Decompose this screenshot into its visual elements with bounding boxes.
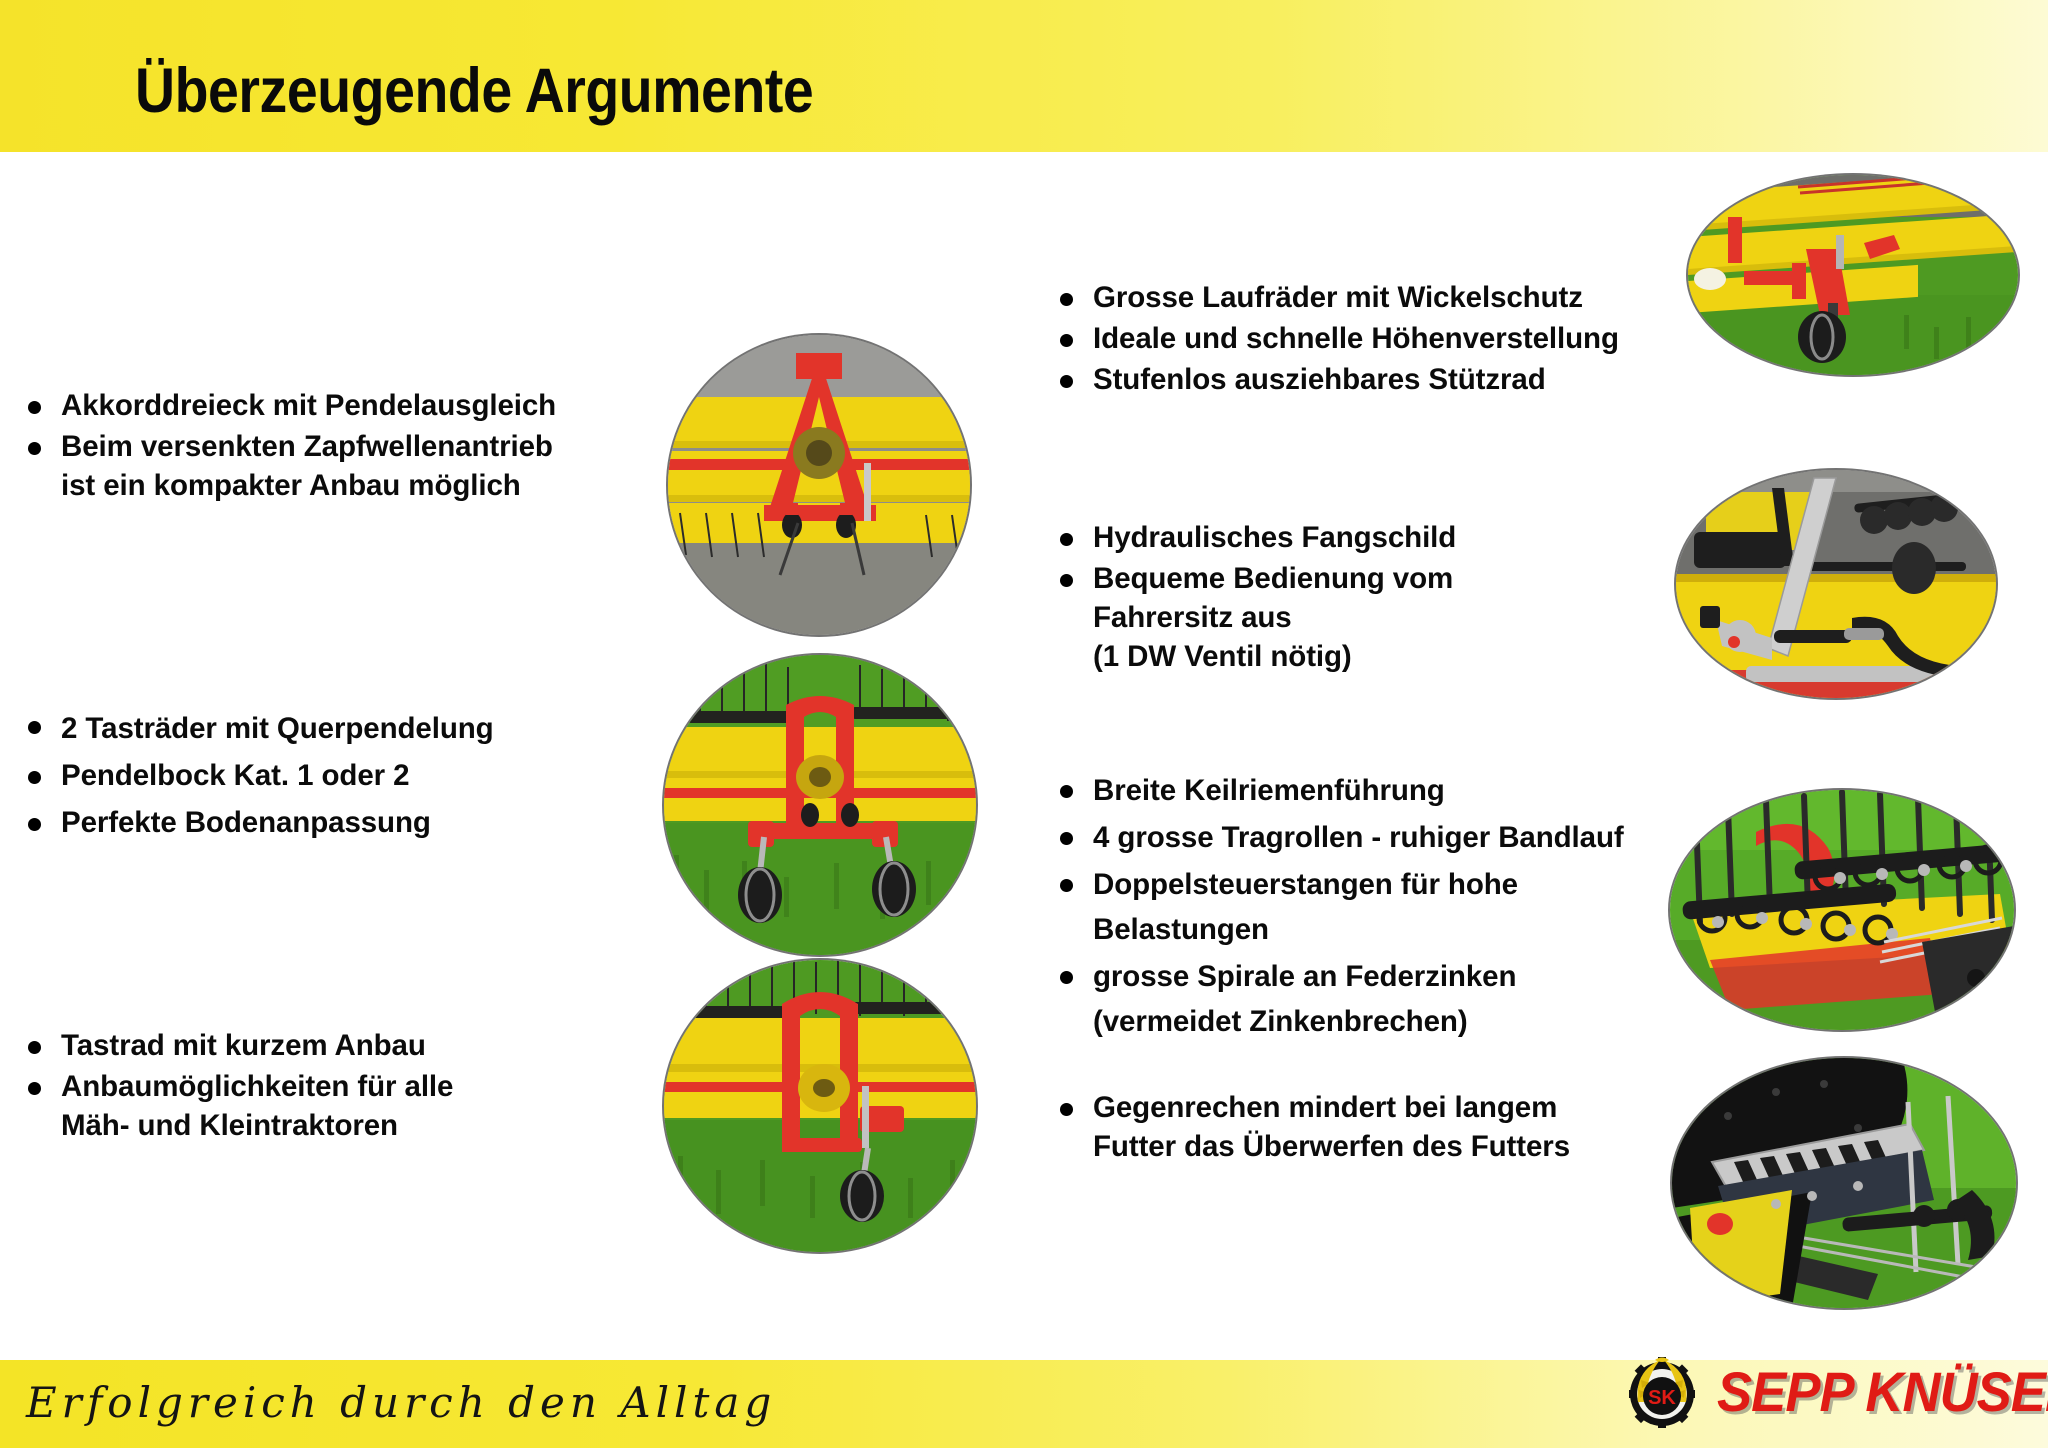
bullet-label: grosse Spirale an Federzinken (vermeidet… [1093,954,1516,1044]
list-item: Tastrad mit kurzem Anbau [28,1026,628,1065]
list-item: Ideale und schnelle Höhenverstellung [1060,319,1680,358]
list-item: Grosse Laufräder mit Wickelschutz [1060,278,1680,317]
left-block-akkorddreieck: Akkorddreieck mit Pendelausgleich Beim v… [28,386,628,507]
bullet-icon [28,818,41,831]
bullet-label: Bequeme Bedienung vom Fahrersitz aus (1 … [1093,559,1453,676]
bullet-label: Hydraulisches Fangschild [1093,518,1456,557]
bullet-icon [28,721,41,734]
right-block-keilriemen: Breite Keilriemenführung 4 grosse Tragro… [1060,768,1700,1046]
list-item: Bequeme Bedienung vom Fahrersitz aus (1 … [1060,559,1680,676]
list-item: 2 Tasträder mit Querpendelung [28,706,628,751]
photo-akkorddreieck [668,335,970,635]
bullet-icon [1060,879,1073,892]
photo-laufraeder [1688,175,2018,375]
bullet-icon [1060,785,1073,798]
bullet-label: Tastrad mit kurzem Anbau [61,1026,426,1065]
photo-fangschild [1676,470,1996,698]
bullet-label: Stufenlos ausziehbares Stützrad [1093,360,1546,399]
list-item: Akkorddreieck mit Pendelausgleich [28,386,628,425]
bullet-icon [28,1041,41,1054]
list-item: 4 grosse Tragrollen - ruhiger Bandlauf [1060,815,1700,860]
left-block-tastraeder: 2 Tasträder mit Querpendelung Pendelbock… [28,706,628,847]
bullet-icon [1060,375,1073,388]
photo-gegenrechen [1672,1058,2016,1308]
list-item: Pendelbock Kat. 1 oder 2 [28,753,628,798]
bullet-icon [28,401,41,414]
bullet-label: Gegenrechen mindert bei langem Futter da… [1093,1088,1570,1166]
bullet-icon [1060,574,1073,587]
bullet-icon [1060,334,1073,347]
page-title: Überzeugende Argumente [135,55,813,127]
bullet-icon [1060,971,1073,984]
photo-federzinken [1670,790,2014,1030]
list-item: Perfekte Bodenanpassung [28,800,628,845]
bullet-label: Breite Keilriemenführung [1093,768,1445,813]
list-item: Beim versenkten Zapfwellenantrieb ist ei… [28,427,628,505]
right-block-fangschild: Hydraulisches Fangschild Bequeme Bedienu… [1060,518,1680,678]
bullet-label: 4 grosse Tragrollen - ruhiger Bandlauf [1093,815,1624,860]
photo-pendelbock [664,655,976,955]
footer-slogan: Erfolgreich durch den Alltag [26,1378,776,1427]
sepp-knuesel-emblem-icon: SK [1625,1354,1699,1428]
photo-tastrad-kurz [664,960,976,1252]
list-item: Gegenrechen mindert bei langem Futter da… [1060,1088,1700,1166]
bullet-label: Akkorddreieck mit Pendelausgleich [61,386,556,425]
list-item: Hydraulisches Fangschild [1060,518,1680,557]
bullet-icon [1060,293,1073,306]
bullet-icon [1060,832,1073,845]
bullet-label: Ideale und schnelle Höhenverstellung [1093,319,1619,358]
company-name: SEPP KNÜSEL [1717,1359,2048,1424]
list-item: Stufenlos ausziehbares Stützrad [1060,360,1680,399]
list-item: Anbaumöglichkeiten für alle Mäh- und Kle… [28,1067,628,1145]
company-logo: SK SEPP KNÜSEL [1625,1354,2048,1428]
bullet-label: Anbaumöglichkeiten für alle Mäh- und Kle… [61,1067,453,1145]
bullet-icon [1060,533,1073,546]
bullet-icon [28,771,41,784]
bullet-label: Doppelsteuerstangen für hohe Belastungen [1093,862,1518,952]
right-block-gegenrechen: Gegenrechen mindert bei langem Futter da… [1060,1088,1700,1168]
bullet-icon [1060,1103,1073,1116]
bullet-label: Pendelbock Kat. 1 oder 2 [61,753,409,798]
bullet-label: Beim versenkten Zapfwellenantrieb ist ei… [61,427,553,505]
bullet-icon [28,1082,41,1095]
list-item: Doppelsteuerstangen für hohe Belastungen [1060,862,1700,952]
bullet-icon [28,442,41,455]
bullet-label: 2 Tasträder mit Querpendelung [61,706,494,751]
bullet-label: Grosse Laufräder mit Wickelschutz [1093,278,1583,317]
left-block-tastrad-kurz: Tastrad mit kurzem Anbau Anbaumöglichkei… [28,1026,628,1147]
emblem-monogram: SK [1648,1387,1676,1409]
bullet-label: Perfekte Bodenanpassung [61,800,431,845]
right-block-laufraeder: Grosse Laufräder mit Wickelschutz Ideale… [1060,278,1680,401]
list-item: Breite Keilriemenführung [1060,768,1700,813]
list-item: grosse Spirale an Federzinken (vermeidet… [1060,954,1700,1044]
